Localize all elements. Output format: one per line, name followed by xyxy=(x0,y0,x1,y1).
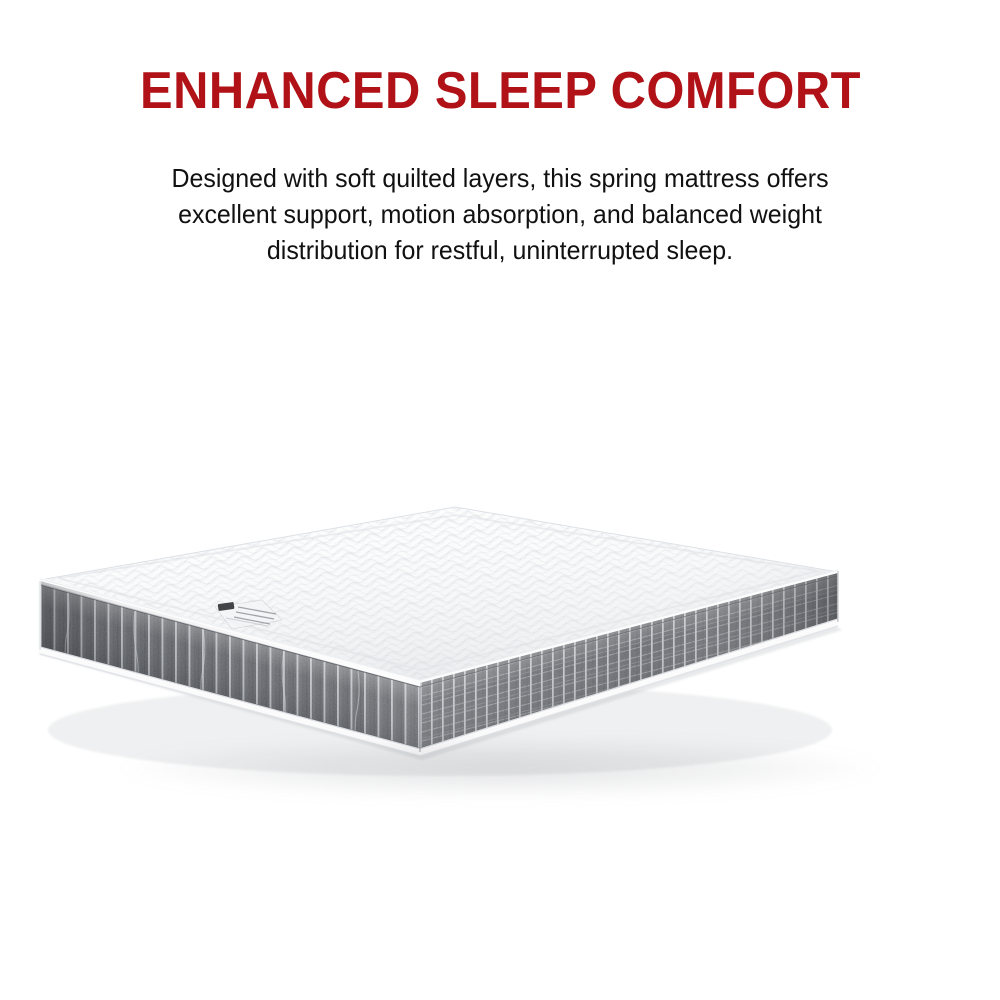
description-line-2: excellent support, motion absorption, an… xyxy=(68,196,932,232)
product-image xyxy=(0,300,1000,1000)
mattress-illustration xyxy=(0,300,1000,1000)
headline-container: ENHANCED SLEEP COMFORT xyxy=(0,62,1000,120)
description-line-3: distribution for restful, uninterrupted … xyxy=(68,232,932,268)
description-container: Designed with soft quilted layers, this … xyxy=(50,160,950,268)
page-title: ENHANCED SLEEP COMFORT xyxy=(140,62,861,120)
description-line-1: Designed with soft quilted layers, this … xyxy=(68,160,932,196)
product-feature-page: ENHANCED SLEEP COMFORT Designed with sof… xyxy=(0,0,1000,1000)
